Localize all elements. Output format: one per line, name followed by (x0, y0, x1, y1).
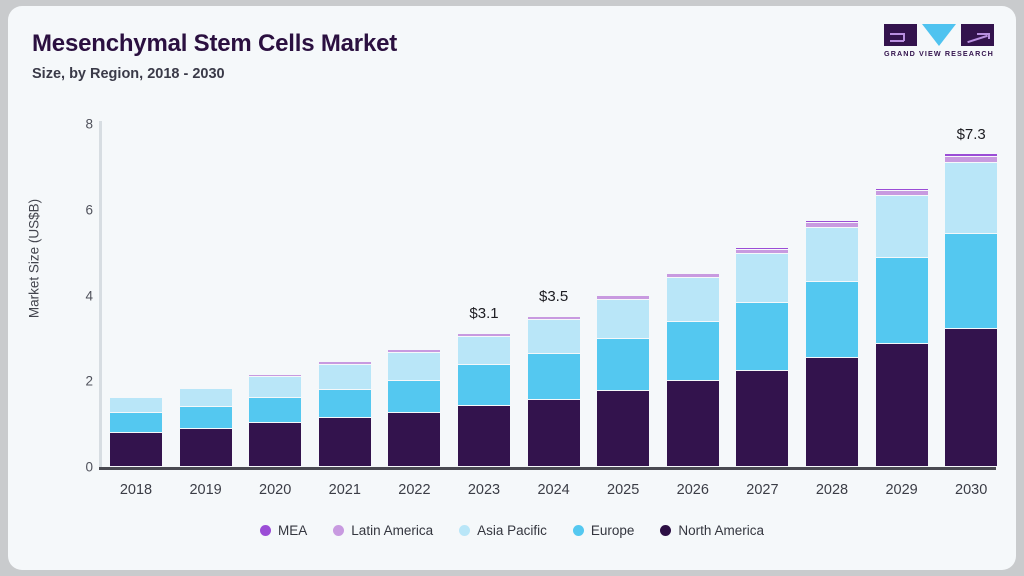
bar-segment-europe[interactable] (528, 354, 580, 400)
bar-segment-north-america[interactable] (876, 344, 928, 467)
bar-segment-north-america[interactable] (319, 418, 371, 467)
bar-2026[interactable] (667, 273, 719, 467)
legend-label: Latin America (351, 523, 433, 538)
y-axis-tick: 0 (47, 460, 93, 475)
bar-2024[interactable] (528, 316, 580, 467)
legend-item-mea[interactable]: MEA (260, 523, 307, 538)
data-label-2023: $3.1 (439, 305, 529, 322)
x-axis-tick: 2024 (519, 482, 589, 498)
bar-segment-north-america[interactable] (597, 391, 649, 467)
bar-segment-europe[interactable] (458, 365, 510, 406)
x-axis-tick: 2026 (658, 482, 728, 498)
legend-swatch-icon (459, 525, 470, 536)
bar-segment-asia-pacific[interactable] (180, 389, 232, 407)
bar-2019[interactable] (180, 387, 232, 467)
bar-2028[interactable] (806, 221, 858, 467)
bar-2022[interactable] (388, 349, 440, 467)
bar-segment-asia-pacific[interactable] (458, 337, 510, 366)
bar-segment-north-america[interactable] (180, 429, 232, 467)
x-axis-tick: 2030 (936, 482, 1006, 498)
bar-segment-asia-pacific[interactable] (110, 398, 162, 413)
x-axis-tick: 2023 (449, 482, 519, 498)
x-axis-tick: 2028 (797, 482, 867, 498)
bar-segment-europe[interactable] (319, 390, 371, 418)
bar-segment-north-america[interactable] (458, 406, 510, 467)
bar-segment-north-america[interactable] (110, 433, 162, 467)
bar-2025[interactable] (597, 295, 649, 467)
legend-label: MEA (278, 523, 307, 538)
bar-segment-north-america[interactable] (667, 381, 719, 467)
logo-text: GRAND VIEW RESEARCH (884, 49, 994, 58)
y-axis-ticks: 02468 (37, 6, 93, 570)
grand-view-research-logo: GRAND VIEW RESEARCH (884, 24, 994, 64)
chart-legend: MEALatin AmericaAsia PacificEuropeNorth … (8, 523, 1016, 538)
bar-2030[interactable] (945, 154, 997, 467)
bar-2029[interactable] (876, 189, 928, 467)
legend-swatch-icon (660, 525, 671, 536)
bar-segment-north-america[interactable] (736, 371, 788, 467)
bar-segment-asia-pacific[interactable] (736, 254, 788, 303)
legend-swatch-icon (260, 525, 271, 536)
bar-segment-north-america[interactable] (945, 329, 997, 467)
bar-segment-north-america[interactable] (528, 400, 580, 467)
logo-box-left-icon (884, 24, 917, 46)
bar-segment-asia-pacific[interactable] (945, 163, 997, 234)
bar-segment-north-america[interactable] (249, 423, 301, 467)
x-axis-tick: 2027 (727, 482, 797, 498)
bar-segment-europe[interactable] (597, 339, 649, 391)
y-axis-tick: 2 (47, 374, 93, 389)
bar-segment-asia-pacific[interactable] (597, 300, 649, 339)
chart-card: Mesenchymal Stem Cells Market Size, by R… (8, 6, 1016, 570)
bar-segment-europe[interactable] (806, 282, 858, 358)
legend-swatch-icon (333, 525, 344, 536)
x-axis-tick: 2025 (588, 482, 658, 498)
bar-segment-europe[interactable] (180, 407, 232, 429)
bar-segment-north-america[interactable] (806, 358, 858, 467)
bar-segment-asia-pacific[interactable] (806, 228, 858, 282)
logo-triangle-icon (922, 24, 956, 46)
x-axis-line (99, 467, 996, 470)
bar-segment-asia-pacific[interactable] (876, 196, 928, 258)
bar-2018[interactable] (110, 396, 162, 467)
legend-item-latin-america[interactable]: Latin America (333, 523, 433, 538)
bar-segment-europe[interactable] (110, 413, 162, 432)
x-axis-tick: 2019 (171, 482, 241, 498)
logo-box-right-icon (961, 24, 994, 46)
x-axis-tick: 2018 (101, 482, 171, 498)
bar-segment-europe[interactable] (876, 258, 928, 344)
legend-swatch-icon (573, 525, 584, 536)
x-axis-tick: 2022 (379, 482, 449, 498)
bar-segment-europe[interactable] (388, 381, 440, 412)
bar-segment-asia-pacific[interactable] (249, 377, 301, 398)
logo-marks (884, 24, 994, 46)
bar-segment-asia-pacific[interactable] (528, 320, 580, 353)
bar-2023[interactable] (458, 333, 510, 467)
bar-segment-asia-pacific[interactable] (667, 278, 719, 322)
data-label-2024: $3.5 (509, 288, 599, 305)
bar-2027[interactable] (736, 248, 788, 467)
y-axis-tick: 8 (47, 117, 93, 132)
bar-2021[interactable] (319, 361, 371, 467)
y-axis-tick: 4 (47, 288, 93, 303)
y-axis-tick: 6 (47, 202, 93, 217)
bar-segment-europe[interactable] (736, 303, 788, 370)
legend-item-north-america[interactable]: North America (660, 523, 764, 538)
x-axis-tick: 2029 (867, 482, 937, 498)
x-axis-tick: 2020 (240, 482, 310, 498)
data-label-2030: $7.3 (926, 126, 1016, 143)
legend-label: North America (678, 523, 764, 538)
legend-item-europe[interactable]: Europe (573, 523, 635, 538)
x-axis-tick: 2021 (310, 482, 380, 498)
bar-segment-asia-pacific[interactable] (319, 365, 371, 391)
legend-label: Europe (591, 523, 635, 538)
y-axis-label: Market Size (US$B) (27, 149, 42, 369)
legend-label: Asia Pacific (477, 523, 547, 538)
bar-segment-europe[interactable] (945, 234, 997, 329)
bar-segment-north-america[interactable] (388, 413, 440, 467)
bar-segment-europe[interactable] (667, 322, 719, 381)
bar-segment-asia-pacific[interactable] (388, 353, 440, 382)
bar-2020[interactable] (249, 374, 301, 467)
bar-segment-europe[interactable] (249, 398, 301, 423)
legend-item-asia-pacific[interactable]: Asia Pacific (459, 523, 547, 538)
